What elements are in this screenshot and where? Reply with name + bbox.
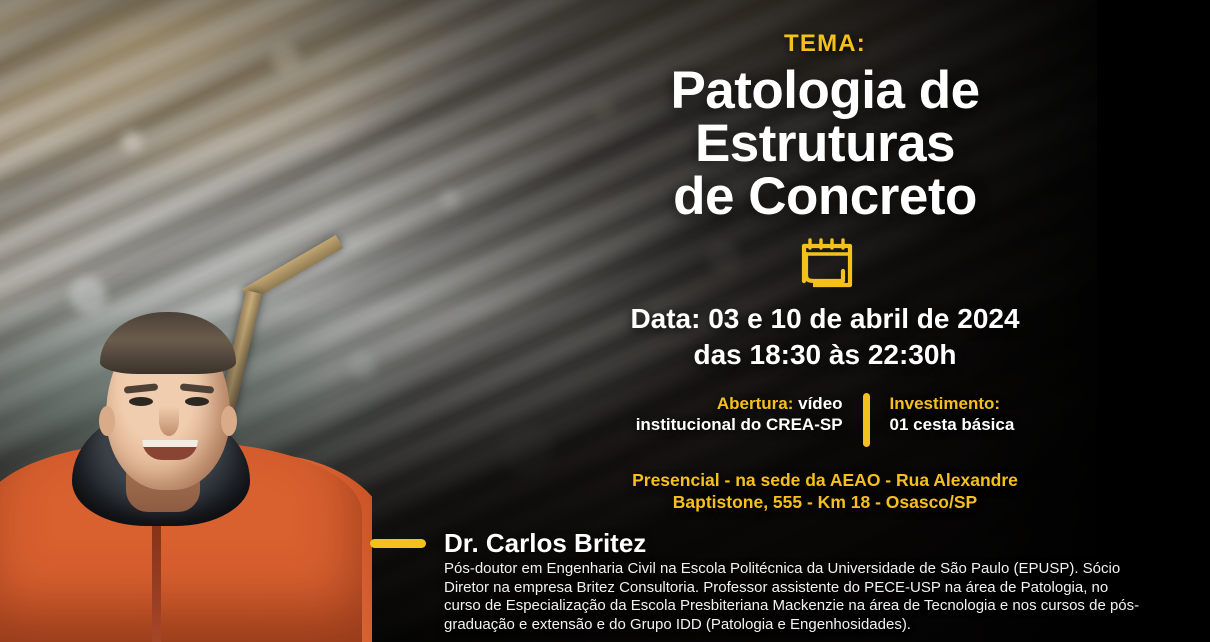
- eyebrow-label: TEMA:: [560, 30, 1090, 58]
- calendar-icon: [794, 237, 856, 291]
- event-date: Data: 03 e 10 de abril de 2024 das 18:30…: [560, 301, 1090, 373]
- opening-line-1: Abertura: vídeo: [636, 393, 843, 415]
- yellow-dash-accent: [370, 539, 426, 548]
- investment-line-2: 01 cesta básica: [890, 414, 1015, 436]
- eye-left: [129, 397, 153, 406]
- location-line-2: Baptistone, 555 - Km 18 - Osasco/SP: [560, 491, 1090, 514]
- speaker-block: Dr. Carlos Britez Pós-doutor em Engenhar…: [370, 528, 1140, 634]
- opening-key: Abertura:: [717, 394, 794, 413]
- hair: [100, 312, 236, 374]
- opening-line-2: institucional do CREA-SP: [636, 414, 843, 436]
- location-line-1: Presencial - na sede da AEAO - Rua Alexa…: [560, 469, 1090, 492]
- investment-block: Investimento: 01 cesta básica: [870, 393, 1015, 447]
- eye-right: [185, 397, 209, 406]
- nose: [159, 406, 179, 436]
- speaker-name: Dr. Carlos Britez: [444, 528, 646, 559]
- ear-right: [221, 406, 237, 436]
- vertical-divider: [863, 393, 870, 447]
- opening-value: vídeo: [793, 394, 842, 413]
- opening-block: Abertura: vídeo institucional do CREA-SP: [636, 393, 863, 447]
- page-title: Patologia de Estruturas de Concreto: [560, 64, 1090, 223]
- date-line-1: Data: 03 e 10 de abril de 2024: [560, 301, 1090, 337]
- ear-left: [99, 406, 115, 436]
- speaker-bio: Pós-doutor em Engenharia Civil na Escola…: [444, 560, 1140, 634]
- speaker-portrait: [0, 276, 372, 642]
- title-line-3: de Concreto: [560, 170, 1090, 223]
- event-location: Presencial - na sede da AEAO - Rua Alexa…: [560, 469, 1090, 515]
- date-line-2: das 18:30 às 22:30h: [560, 337, 1090, 373]
- investment-key: Investimento:: [890, 393, 1015, 415]
- title-line-1: Patologia de: [560, 64, 1090, 117]
- details-row: Abertura: vídeo institucional do CREA-SP…: [560, 393, 1090, 447]
- calendar-icon-wrap: [560, 237, 1090, 291]
- title-line-2: Estruturas: [560, 117, 1090, 170]
- speaker-name-row: Dr. Carlos Britez: [370, 528, 1140, 559]
- event-poster: TEMA: Patologia de Estruturas de Concret…: [0, 0, 1210, 642]
